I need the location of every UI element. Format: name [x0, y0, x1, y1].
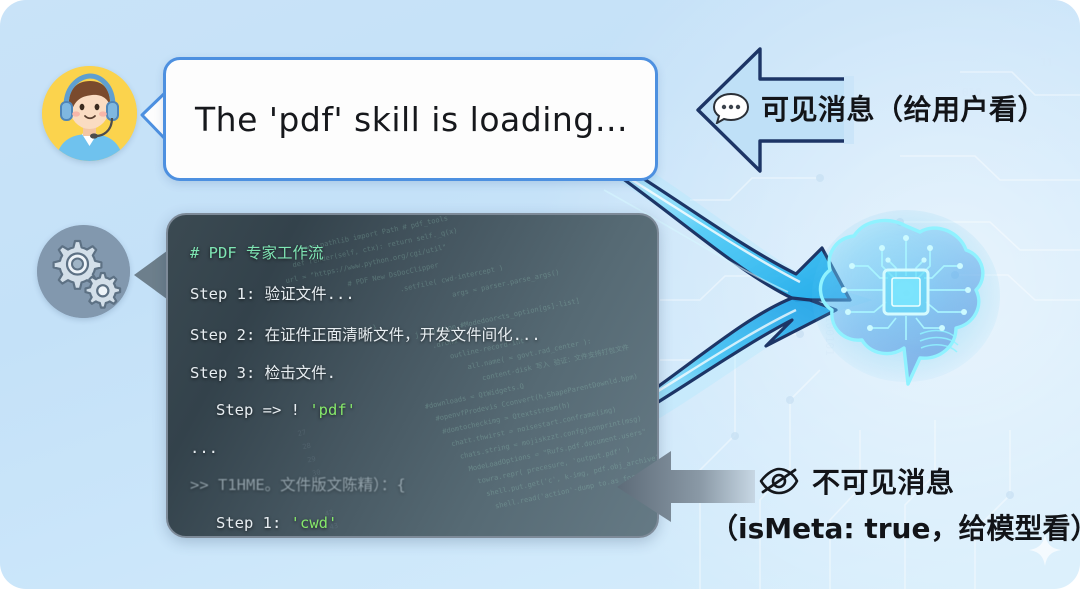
- infographic-canvas: 100101 0110 010101 11: [0, 0, 1080, 589]
- code-content: # PDF 专家工作流 Step 1: 验证文件... Step 2: 在证件正…: [190, 233, 649, 538]
- visible-message-text: 可见消息（给用户看）: [761, 88, 1046, 128]
- assistant-message-bubble: The 'pdf' skill is loading…: [163, 57, 658, 181]
- hidden-meta-code-panel: from pathlib import Path # pdf_tools def…: [166, 213, 659, 538]
- svg-text:11: 11: [1040, 56, 1053, 69]
- code-line-step: Step => !: [216, 401, 309, 419]
- code-line: Step 2: 在证件正面清晰文件，开发文件间化...: [190, 315, 649, 356]
- support-agent-avatar: [42, 66, 137, 161]
- code-line: # PDF 专家工作流: [190, 233, 649, 274]
- code-line-value: 'cwd': [291, 514, 338, 532]
- ai-brain-circuit-icon: [808, 208, 1004, 394]
- code-line: Step 1: 'cwd': [190, 506, 649, 538]
- code-line: ...: [190, 431, 649, 465]
- code-line: Step 1: 验证文件...: [190, 274, 649, 315]
- code-line-value: 'pdf': [309, 401, 356, 419]
- code-line: >> T1HME。文件版文陈精）：{: [190, 465, 649, 506]
- code-line: Step => ! 'pdf': [190, 390, 649, 431]
- visible-message-label: 可见消息（给用户看）: [712, 88, 1046, 128]
- sparkle-icon: [1028, 533, 1062, 567]
- assistant-message-text: The 'pdf' skill is loading…: [195, 100, 628, 139]
- code-line-step: Step 1:: [216, 514, 291, 532]
- speech-bubble-icon: [712, 92, 750, 124]
- hidden-message-text-line2: （isMeta: true，给模型看）: [710, 507, 1080, 547]
- gears-icon: [37, 225, 130, 318]
- eye-slash-icon: [758, 466, 800, 496]
- hidden-message-text-line1: 不可见消息: [812, 461, 955, 501]
- code-line: Step 3: 检击文件.: [190, 356, 649, 390]
